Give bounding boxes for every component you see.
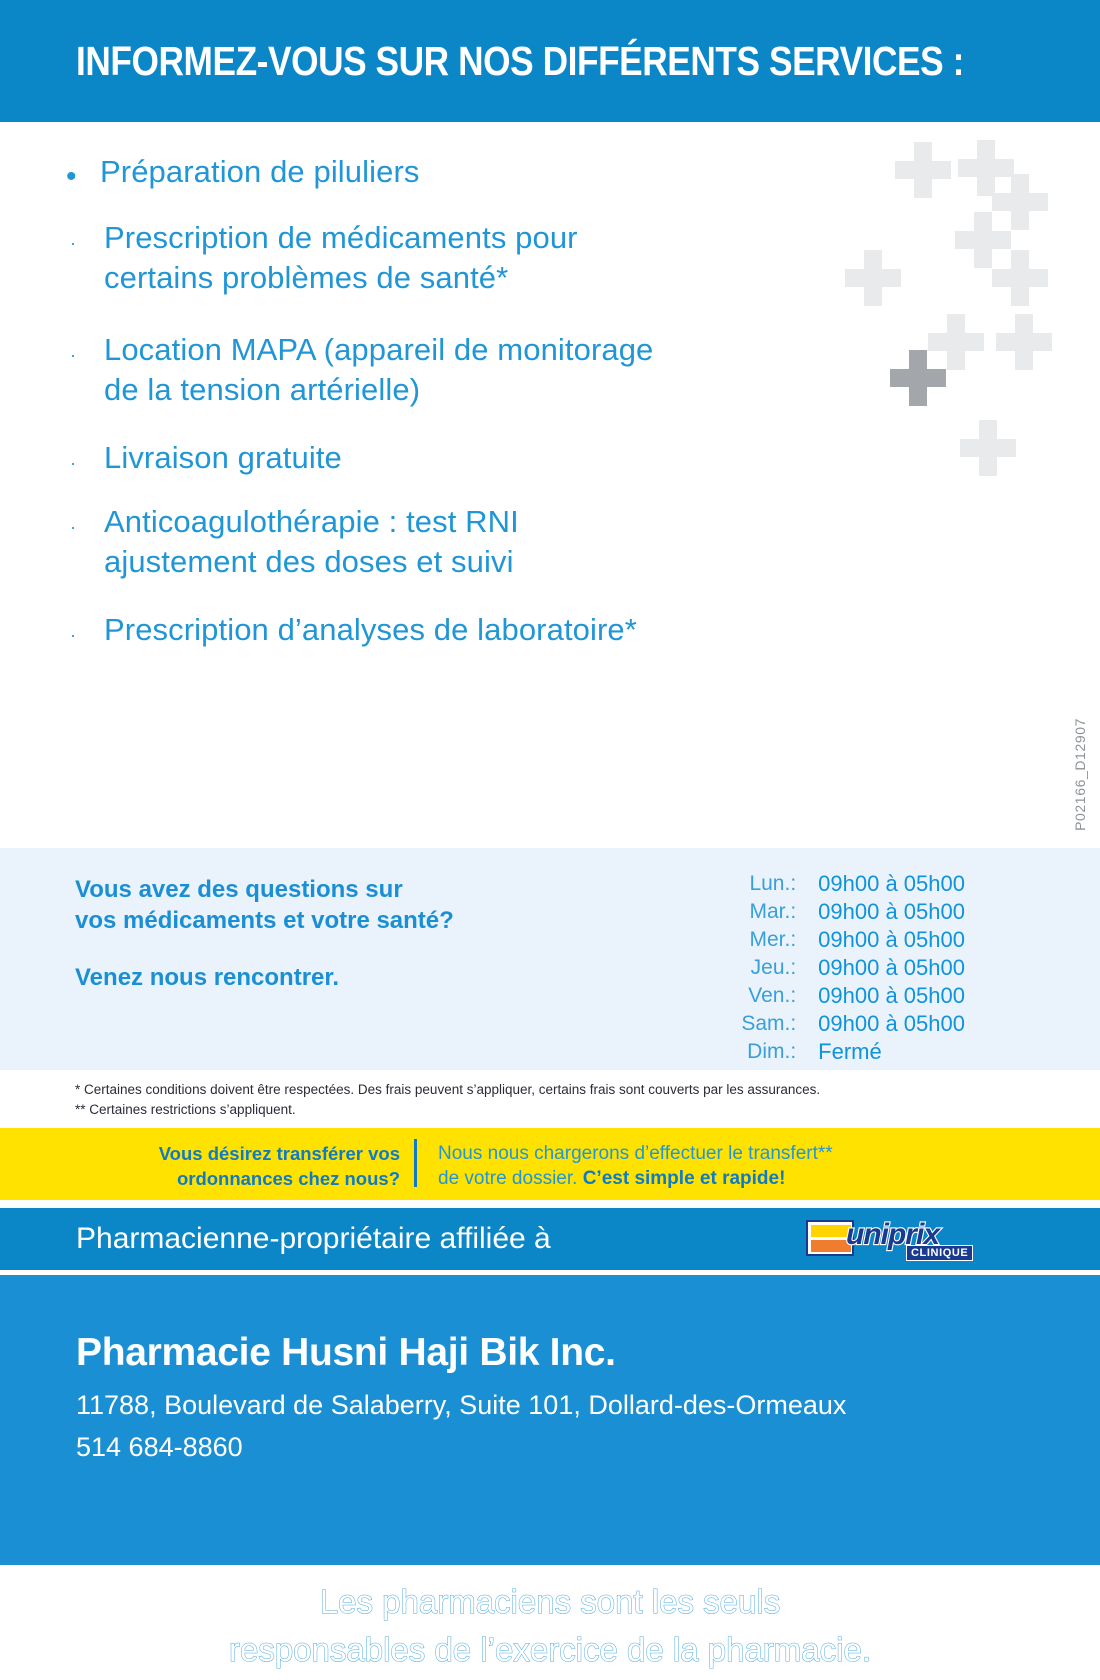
service-item: ·Location MAPA (appareil de monitorage d…	[62, 330, 653, 410]
service-item: ·Prescription d’analyses de laboratoire*	[62, 610, 637, 650]
cross-pattern-decoration	[800, 122, 1100, 472]
service-label: Livraison gratuite	[104, 438, 342, 478]
service-item: ·Prescription de médicaments pour certai…	[62, 218, 578, 298]
pharmacy-identity-band: Pharmacie Husni Haji Bik Inc. 11788, Bou…	[0, 1275, 1100, 1565]
transfer-answer-bold: C’est simple et rapide!	[583, 1168, 786, 1189]
pharmacy-address: 11788, Boulevard de Salaberry, Suite 101…	[76, 1384, 846, 1468]
header-band: INFORMEZ-VOUS SUR NOS DIFFÉRENTS SERVICE…	[0, 0, 1100, 122]
opening-hours-table: Lun.:09h00 à 05h00Mar.:09h00 à 05h00Mer.…	[741, 870, 965, 1066]
hours-time-value: 09h00 à 05h00	[818, 982, 965, 1010]
legal-disclaimer: Les pharmaciens sont les seuls responsab…	[0, 1578, 1100, 1674]
hours-day-label: Jeu.:	[741, 954, 796, 982]
hours-day-label: Sam.:	[741, 1010, 796, 1038]
hours-day-label: Mer.:	[741, 926, 796, 954]
hours-time-value: 09h00 à 05h00	[818, 870, 965, 898]
uniprix-bar-orange	[811, 1240, 851, 1252]
bullet-icon: ·	[62, 438, 104, 472]
plus-icon	[960, 420, 1016, 476]
questions-spacer	[75, 936, 454, 962]
transfer-banner: Vous désirez transférer vos ordonnances …	[0, 1128, 1100, 1200]
hours-day-label: Dim.:	[741, 1038, 796, 1066]
transfer-answer-line-2: de votre dossier. C’est simple et rapide…	[438, 1166, 833, 1191]
bullet-icon: ·	[62, 330, 104, 364]
footnote-double-asterisk: ** Certaines restrictions s’appliquent.	[75, 1100, 820, 1120]
questions-line-2: vos médicaments et votre santé?	[75, 905, 454, 936]
plus-icon	[845, 250, 901, 306]
bullet-icon: ·	[62, 218, 104, 252]
hours-time-value: Fermé	[818, 1038, 965, 1066]
transfer-question: Vous désirez transférer vos ordonnances …	[130, 1141, 400, 1191]
bullet-icon: ·	[62, 502, 104, 536]
print-code: P02166_D12907	[1072, 718, 1088, 831]
questions-line-1: Vous avez des questions sur	[75, 874, 454, 905]
service-label: Prescription de médicaments pour certain…	[104, 218, 578, 298]
uniprix-bar-yellow	[811, 1225, 851, 1237]
service-item: ·Anticoagulothérapie : test RNI ajusteme…	[62, 502, 519, 582]
hours-day-label: Mar.:	[741, 898, 796, 926]
service-label: Anticoagulothérapie : test RNI ajustemen…	[104, 502, 519, 582]
service-item: •Préparation de piluliers	[62, 152, 419, 192]
hours-day-label: Lun.:	[741, 870, 796, 898]
plus-icon	[890, 350, 946, 406]
hours-time-value: 09h00 à 05h00	[818, 954, 965, 982]
transfer-answer-plain: de votre dossier.	[438, 1168, 583, 1189]
service-item: ·Livraison gratuite	[62, 438, 342, 478]
info-panel: Vous avez des questions sur vos médicame…	[0, 848, 1100, 1070]
hours-time-value: 09h00 à 05h00	[818, 898, 965, 926]
hours-time-value: 09h00 à 05h00	[818, 1010, 965, 1038]
hours-time-value: 09h00 à 05h00	[818, 926, 965, 954]
page-title: INFORMEZ-VOUS SUR NOS DIFFÉRENTS SERVICE…	[76, 38, 964, 85]
affiliation-band: Pharmacienne-propriétaire affiliée à uni…	[0, 1208, 1100, 1270]
footnotes: * Certaines conditions doivent être resp…	[75, 1080, 820, 1120]
transfer-question-line-2: ordonnances chez nous?	[130, 1166, 400, 1191]
invite-line: Venez nous rencontrer.	[75, 962, 454, 993]
transfer-question-line-1: Vous désirez transférer vos	[130, 1141, 400, 1166]
uniprix-logo: uniprix CLINIQUE	[806, 1216, 960, 1262]
plus-icon	[992, 250, 1048, 306]
plus-icon	[895, 142, 951, 198]
service-label: Prescription d’analyses de laboratoire*	[104, 610, 637, 650]
uniprix-clinique-tag: CLINIQUE	[906, 1245, 973, 1261]
transfer-answer-line-1: Nous nous chargerons d’effectuer le tran…	[438, 1141, 833, 1166]
pharmacy-name: Pharmacie Husni Haji Bik Inc.	[76, 1331, 616, 1375]
service-label: Préparation de piluliers	[100, 152, 419, 192]
affiliation-text: Pharmacienne-propriétaire affiliée à	[76, 1220, 551, 1258]
footnote-single-asterisk: * Certaines conditions doivent être resp…	[75, 1080, 820, 1100]
questions-block: Vous avez des questions sur vos médicame…	[75, 874, 454, 993]
plus-icon	[996, 314, 1052, 370]
hours-day-label: Ven.:	[741, 982, 796, 1010]
bullet-icon: ·	[62, 610, 104, 644]
bullet-icon: •	[62, 152, 100, 192]
service-label: Location MAPA (appareil de monitorage de…	[104, 330, 653, 410]
transfer-answer: Nous nous chargerons d’effectuer le tran…	[438, 1141, 833, 1191]
transfer-divider	[414, 1139, 417, 1187]
